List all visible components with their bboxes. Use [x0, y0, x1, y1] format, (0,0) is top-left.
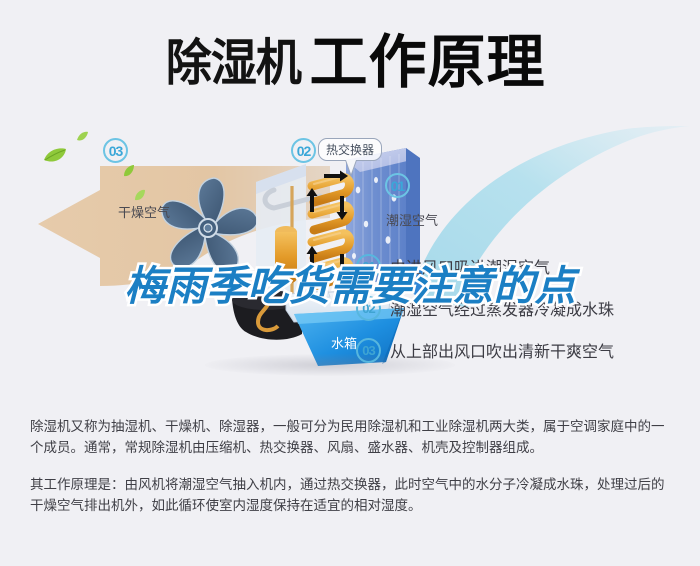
- title-part-two: 工作原理: [309, 34, 545, 92]
- legend-item: 02 潮湿空气经过蒸发器冷凝成水珠: [356, 297, 686, 319]
- legend-text: 潮湿空气经过蒸发器冷凝成水珠: [390, 296, 614, 320]
- callout-badge-01: 01: [385, 173, 410, 198]
- legend-number: 01: [356, 254, 381, 279]
- fan-icon: [158, 176, 258, 281]
- leaf-icon: [134, 188, 146, 202]
- infographic-page: 除湿机 工作原理: [0, 0, 700, 566]
- page-title: 除湿机 工作原理: [0, 28, 700, 98]
- legend-text: 由进风口吸进潮湿空气: [390, 254, 550, 278]
- body-copy: 除湿机又称为抽湿机、干燥机、除湿器，一般可分为民用除湿机和工业除湿机两大类，属于…: [30, 416, 675, 532]
- legend-list: 01 由进风口吸进潮湿空气 02 潮湿空气经过蒸发器冷凝成水珠 03 从上部出风…: [356, 255, 686, 381]
- callout-label-humid-air: 潮湿空气: [386, 210, 438, 229]
- paragraph-two: 其工作原理是：由风机将潮湿空气抽入机内，通过热交换器，此时空气中的水分子冷凝成水…: [30, 474, 675, 516]
- callout-badge-02: 02: [291, 138, 316, 163]
- callout-label-dry-air: 干燥空气: [118, 202, 170, 221]
- callout-badge-03: 03: [103, 138, 128, 163]
- legend-text: 从上部出风口吹出清新干爽空气: [390, 338, 614, 362]
- legend-number: 03: [356, 338, 381, 363]
- leaf-icon: [42, 146, 68, 166]
- legend-item: 03 从上部出风口吹出清新干爽空气: [356, 339, 686, 361]
- callout-bubble-heat-exchanger: 热交换器: [318, 138, 382, 161]
- legend-item: 01 由进风口吸进潮湿空气: [356, 255, 686, 277]
- leaf-icon: [76, 130, 89, 143]
- legend-number: 02: [356, 296, 381, 321]
- leaf-icon: [122, 164, 135, 178]
- water-tank-label: 水箱: [331, 336, 357, 351]
- paragraph-one: 除湿机又称为抽湿机、干燥机、除湿器，一般可分为民用除湿机和工业除湿机两大类，属于…: [30, 416, 675, 458]
- title-part-one: 除湿机: [166, 38, 301, 88]
